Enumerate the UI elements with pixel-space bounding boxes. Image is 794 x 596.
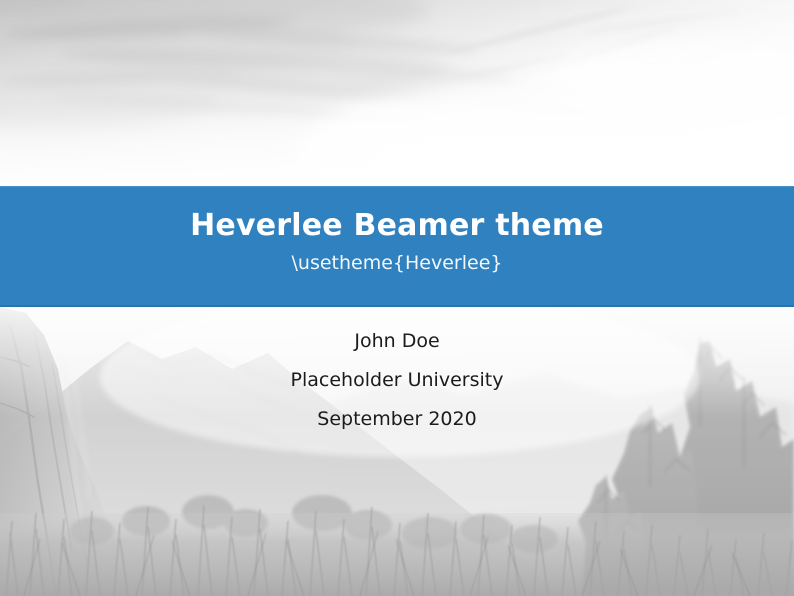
author-institute: Placeholder University (0, 371, 794, 390)
author-block: John Doe Placeholder University Septembe… (0, 332, 794, 429)
title-band: Heverlee Beamer theme \usetheme{Heverlee… (0, 186, 794, 307)
author-name: John Doe (0, 332, 794, 351)
presentation-date: September 2020 (0, 410, 794, 429)
sky-clouds-photo (0, 0, 794, 186)
page-subtitle: \usetheme{Heverlee} (0, 253, 794, 274)
title-slide: Heverlee Beamer theme \usetheme{Heverlee… (0, 0, 794, 596)
page-title: Heverlee Beamer theme (0, 209, 794, 242)
